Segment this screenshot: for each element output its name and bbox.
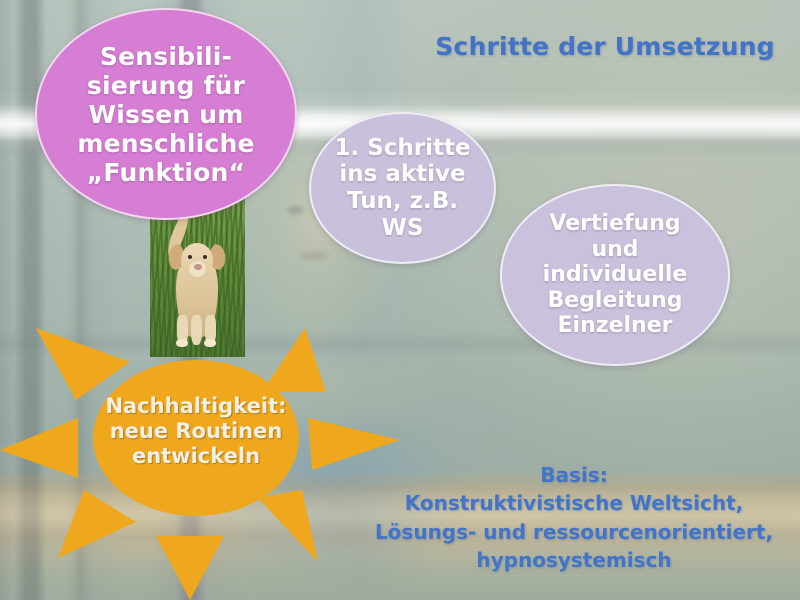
basis-line: hypnosystemisch: [348, 546, 800, 574]
bubble-line: Einzelner: [543, 313, 688, 339]
sun-label: Nachhaltigkeit: neue Routinen entwickeln: [78, 394, 314, 470]
bubble-text: 1. Schritte ins aktive Tun, z.B. WS: [324, 135, 480, 242]
bubble-vertiefung[interactable]: Vertiefung und individuelle Begleitung E…: [500, 184, 730, 366]
bubble-text: Vertiefung und individuelle Begleitung E…: [531, 211, 700, 339]
bubble-line: Vertiefung: [543, 211, 688, 237]
presentation-slide: Schritte der Umsetzung: [0, 0, 800, 600]
bubble-line: 1. Schritte: [334, 135, 470, 162]
bubble-line: WS: [334, 215, 470, 242]
dog-eye: [188, 255, 192, 259]
bubble-line: Tun, z.B.: [334, 188, 470, 215]
sun-label-line: Nachhaltigkeit:: [78, 394, 314, 419]
bubble-line: sierung für: [77, 71, 254, 100]
bubble-line: menschliche: [77, 129, 254, 158]
bubble-erste-schritte[interactable]: 1. Schritte ins aktive Tun, z.B. WS: [309, 112, 496, 264]
bubble-text: Sensibili- sierung für Wissen um menschl…: [63, 42, 268, 187]
basis-text-block: Basis: Konstruktivistische Weltsicht, Lö…: [348, 461, 800, 575]
bubble-line: individuelle: [543, 262, 688, 288]
slide-title: Schritte der Umsetzung: [420, 32, 790, 61]
bubble-line: und: [543, 237, 688, 263]
dog-nose: [194, 264, 202, 270]
bubble-line: Begleitung: [543, 288, 688, 314]
bubble-line: Sensibili-: [77, 42, 254, 71]
basis-line: Konstruktivistische Weltsicht,: [348, 489, 800, 517]
sun-label-line: entwickeln: [78, 444, 314, 469]
dog-eye: [203, 255, 207, 259]
bubble-sensibilisierung[interactable]: Sensibili- sierung für Wissen um menschl…: [35, 8, 297, 220]
basis-line: Lösungs- und ressourcenorientiert,: [348, 518, 800, 546]
basis-line: Basis:: [348, 461, 800, 489]
bubble-line: „Funktion“: [77, 158, 254, 187]
bubble-line: Wissen um: [77, 100, 254, 129]
bubble-line: ins aktive: [334, 161, 470, 188]
sun-label-line: neue Routinen: [78, 419, 314, 444]
